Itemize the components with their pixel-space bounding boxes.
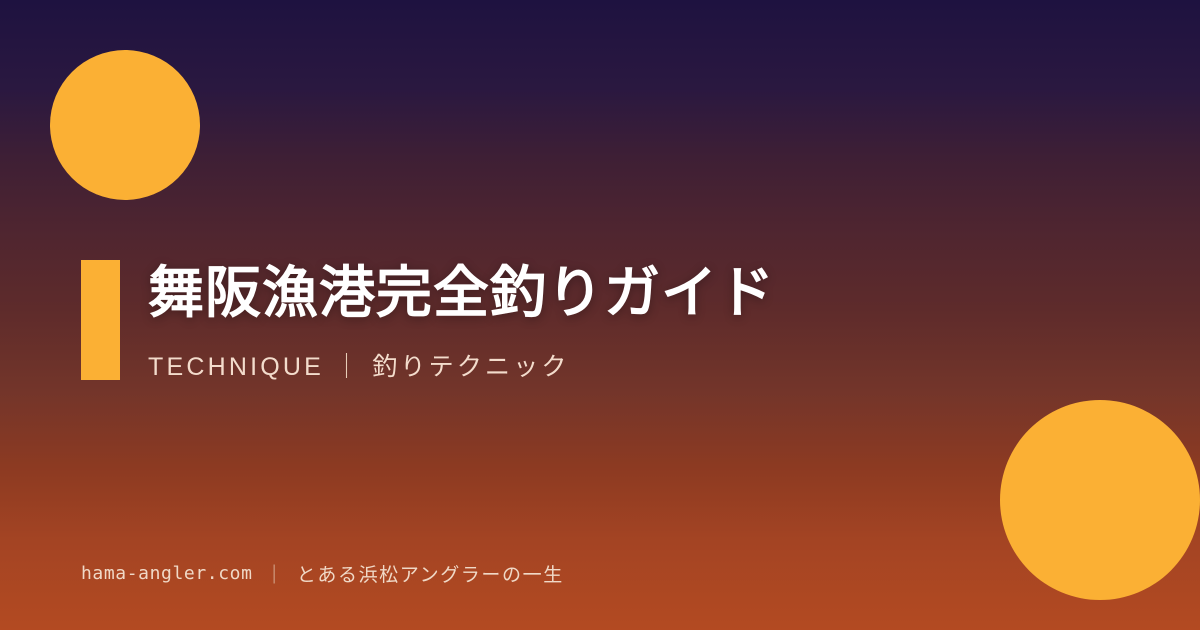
- footer-tagline: とある浜松アングラーの一生: [297, 560, 564, 587]
- footer-separator: ｜: [253, 560, 297, 587]
- category-label: TECHNIQUE: [148, 353, 324, 381]
- page-title: 舞阪漁港完全釣りガイド: [148, 262, 775, 325]
- subtitle: TECHNIQUE｜釣りテクニック: [148, 325, 775, 383]
- accent-bar: [81, 260, 120, 380]
- title-text-column: 舞阪漁港完全釣りガイド TECHNIQUE｜釣りテクニック: [120, 260, 775, 383]
- title-row: 舞阪漁港完全釣りガイド TECHNIQUE｜釣りテクニック: [81, 260, 1121, 383]
- decorative-circle-bottom-right: [1000, 400, 1200, 600]
- card-content: 舞阪漁港完全釣りガイド TECHNIQUE｜釣りテクニック: [81, 260, 1121, 383]
- footer-site-domain: hama-angler.com: [81, 563, 253, 584]
- og-image-card: 舞阪漁港完全釣りガイド TECHNIQUE｜釣りテクニック hama-angle…: [0, 0, 1200, 630]
- category-japanese-label: 釣りテクニック: [372, 353, 569, 381]
- category-separator: ｜: [324, 353, 372, 381]
- footer: hama-angler.com ｜ とある浜松アングラーの一生: [81, 560, 564, 587]
- decorative-circle-top-left: [50, 50, 200, 200]
